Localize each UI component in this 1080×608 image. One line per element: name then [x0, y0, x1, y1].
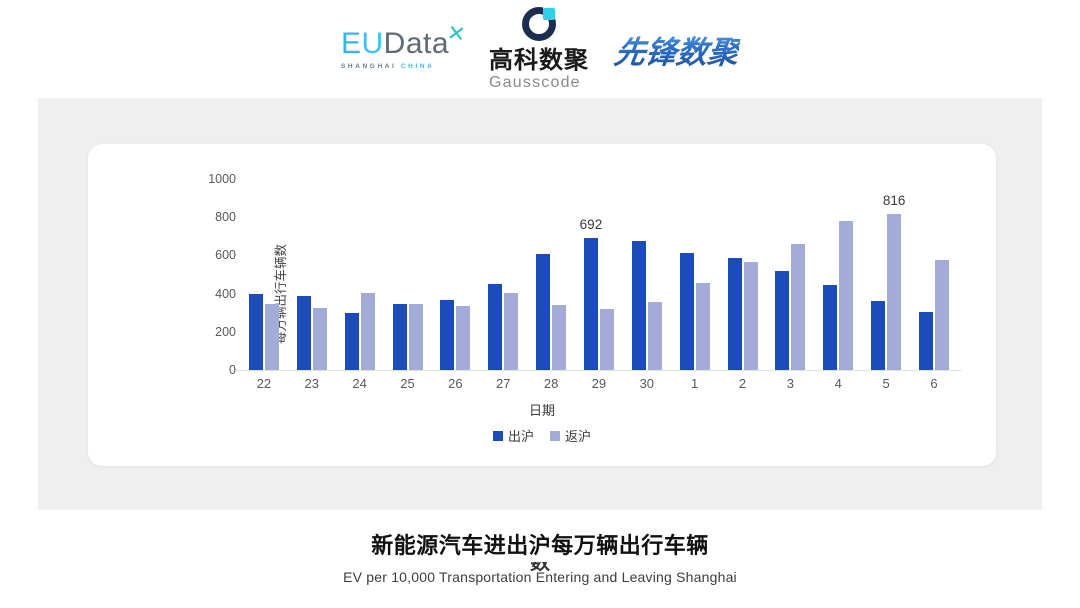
gausscode-c-mark-icon: [522, 7, 556, 41]
bar-group[interactable]: [671, 144, 719, 370]
bar-out[interactable]: [536, 254, 550, 370]
bar-ret[interactable]: [409, 304, 423, 370]
x-axis-tick-label: 5: [862, 376, 910, 391]
y-axis-tick-label: 400: [180, 287, 236, 301]
screenshot-root: EUData ✕ SHANGHAI CHINA 高科数聚 Gausscode 先…: [0, 0, 1080, 608]
bar-group[interactable]: [240, 144, 288, 370]
evdata-letters-data: Data: [384, 27, 449, 60]
bar-group[interactable]: [623, 144, 671, 370]
x-axis-tick-label: 24: [336, 376, 384, 391]
bar-out[interactable]: [345, 313, 359, 370]
y-axis-tick-label: 0: [180, 363, 236, 377]
x-axis-tick-label: 28: [527, 376, 575, 391]
x-axis-tick-label: 4: [814, 376, 862, 391]
bar-ret[interactable]: [265, 304, 279, 370]
bar-group[interactable]: [479, 144, 527, 370]
bar-out[interactable]: [297, 296, 311, 370]
legend-swatch-icon: [550, 431, 560, 441]
bar-out[interactable]: [393, 304, 407, 370]
x-axis-tick-label: 3: [766, 376, 814, 391]
bar-out[interactable]: [919, 312, 933, 370]
x-axis-tick-label: 23: [288, 376, 336, 391]
bar-ret[interactable]: [696, 283, 710, 370]
evdata-letter-v: U: [361, 27, 383, 60]
bar-ret[interactable]: [504, 293, 518, 370]
x-axis-ticks: 222324252627282930123456: [240, 376, 958, 391]
x-axis-tick-label: 1: [671, 376, 719, 391]
y-axis-tick-label: 200: [180, 325, 236, 339]
bar-group[interactable]: [336, 144, 384, 370]
y-axis-tick-label: 1000: [180, 172, 236, 186]
bar-ret[interactable]: [839, 221, 853, 370]
xianfeng-wordmark: 先锋数聚: [612, 27, 742, 72]
legend-item[interactable]: 出沪: [493, 426, 534, 445]
x-axis-tick-label: 2: [719, 376, 767, 391]
bar-group[interactable]: [384, 144, 432, 370]
bar-value-label: 692: [580, 217, 603, 232]
x-axis-tick-label: 27: [479, 376, 527, 391]
bar-chart: 每万辆出行车辆数 10008006004002000 692816 222324…: [88, 144, 996, 466]
bar-out[interactable]: [488, 284, 502, 370]
bar-out[interactable]: [823, 285, 837, 370]
bar-ret[interactable]: [935, 260, 949, 370]
bar-group[interactable]: 816: [862, 144, 910, 370]
legend-item[interactable]: 返沪: [550, 426, 591, 445]
y-axis-tick-label: 600: [180, 248, 236, 262]
evdata-tagline: SHANGHAI CHINA: [341, 63, 449, 70]
bar-out[interactable]: [440, 300, 454, 370]
gausscode-square-accent: [543, 8, 555, 20]
bar-ret[interactable]: [744, 262, 758, 370]
bar-group[interactable]: [431, 144, 479, 370]
x-axis-tick-label: 6: [910, 376, 958, 391]
bar-ret[interactable]: [456, 306, 470, 370]
gausscode-name-cn: 高科数聚: [489, 49, 589, 73]
evdata-wordmark: EUData: [341, 29, 449, 59]
bar-out[interactable]: [249, 294, 263, 370]
bar-ret[interactable]: [600, 309, 614, 370]
bar-group[interactable]: [910, 144, 958, 370]
bar-out[interactable]: [775, 271, 789, 370]
x-axis-tick-label: 26: [431, 376, 479, 391]
x-axis-tick-label: 22: [240, 376, 288, 391]
bar-out[interactable]: [584, 238, 598, 370]
bar-groups: 692816: [240, 144, 958, 370]
evdata-x-icon: ✕: [445, 21, 466, 45]
legend-label: 返沪: [565, 426, 591, 445]
bar-ret[interactable]: [791, 244, 805, 370]
chart-legend: 出沪返沪: [88, 426, 996, 445]
legend-label: 出沪: [508, 426, 534, 445]
bar-ret[interactable]: [552, 305, 566, 370]
footer-caption: 新能源汽车进出沪每万辆出行车辆 数 EV per 10,000 Transpor…: [0, 528, 1080, 585]
gausscode-name-en: Gausscode: [489, 75, 589, 91]
evdata-tagline-city: SHANGHAI: [341, 63, 396, 70]
bar-group[interactable]: 692: [575, 144, 623, 370]
gausscode-logo: 高科数聚 Gausscode: [489, 7, 589, 91]
bar-value-label: 816: [883, 193, 906, 208]
evdata-letter-e: E: [341, 27, 362, 60]
bar-ret[interactable]: [361, 293, 375, 370]
evdata-tagline-country: CHINA: [401, 63, 435, 70]
x-axis-title: 日期: [88, 400, 996, 419]
bar-out[interactable]: [728, 258, 742, 370]
bar-ret[interactable]: [313, 308, 327, 370]
bar-group[interactable]: [527, 144, 575, 370]
bar-group[interactable]: [719, 144, 767, 370]
x-axis-baseline: [236, 370, 962, 371]
bar-group[interactable]: [288, 144, 336, 370]
x-axis-tick-label: 29: [575, 376, 623, 391]
footer-title-cn: 新能源汽车进出沪每万辆出行车辆: [0, 528, 1080, 560]
legend-swatch-icon: [493, 431, 503, 441]
x-axis-tick-label: 25: [384, 376, 432, 391]
bar-out[interactable]: [632, 241, 646, 370]
bar-out[interactable]: [680, 253, 694, 370]
bar-ret[interactable]: [887, 214, 901, 370]
bar-group[interactable]: [814, 144, 862, 370]
xianfeng-logo: 先锋数聚: [615, 27, 739, 72]
evdata-logo: EUData ✕ SHANGHAI CHINA: [341, 29, 463, 70]
bar-group[interactable]: [766, 144, 814, 370]
logo-bar: EUData ✕ SHANGHAI CHINA 高科数聚 Gausscode 先…: [0, 18, 1080, 80]
bar-ret[interactable]: [648, 302, 662, 370]
y-axis-tick-label: 800: [180, 210, 236, 224]
x-axis-tick-label: 30: [623, 376, 671, 391]
gausscode-wordmark: 高科数聚 Gausscode: [489, 49, 589, 91]
chart-card: 每万辆出行车辆数 10008006004002000 692816 222324…: [88, 144, 996, 466]
bar-out[interactable]: [871, 301, 885, 370]
